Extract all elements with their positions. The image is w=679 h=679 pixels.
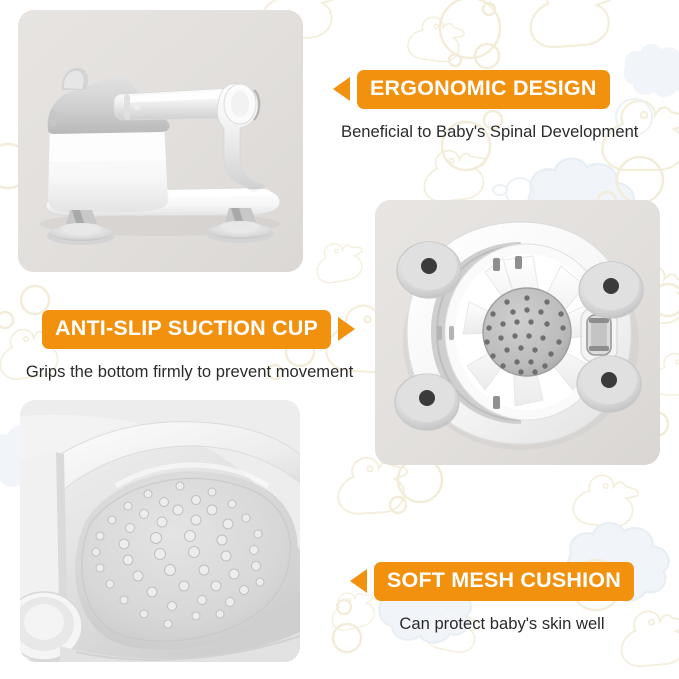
infographic-canvas: ERGONOMIC DESIGN Beneficial to Baby's Sp…	[0, 0, 679, 679]
subtext-ergonomic: Beneficial to Baby's Spinal Development	[341, 122, 638, 142]
photo-mesh-closeup	[20, 400, 300, 662]
left-triangle-icon	[350, 569, 367, 593]
subtext-soft-mesh: Can protect baby's skin well	[370, 614, 634, 634]
callout-soft-mesh-cushion: SOFT MESH CUSHION Can protect baby's ski…	[350, 562, 634, 633]
callout-anti-slip-suction-cup: ANTI-SLIP SUCTION CUP Grips the bottom f…	[42, 310, 355, 381]
left-triangle-icon	[333, 77, 350, 101]
callout-ergonomic-design: ERGONOMIC DESIGN Beneficial to Baby's Sp…	[333, 70, 638, 141]
photo-side-view	[18, 10, 303, 272]
right-triangle-icon	[338, 317, 355, 341]
badge-row-anti-slip: ANTI-SLIP SUCTION CUP	[42, 310, 355, 349]
badge-label-anti-slip: ANTI-SLIP SUCTION CUP	[42, 310, 331, 349]
badge-row-ergonomic: ERGONOMIC DESIGN	[333, 70, 638, 109]
badge-label-ergonomic: ERGONOMIC DESIGN	[357, 70, 610, 109]
badge-row-soft-mesh: SOFT MESH CUSHION	[350, 562, 634, 601]
subtext-anti-slip: Grips the bottom firmly to prevent movem…	[24, 362, 355, 382]
photo-bottom-view	[375, 200, 660, 465]
badge-label-soft-mesh: SOFT MESH CUSHION	[374, 562, 634, 601]
